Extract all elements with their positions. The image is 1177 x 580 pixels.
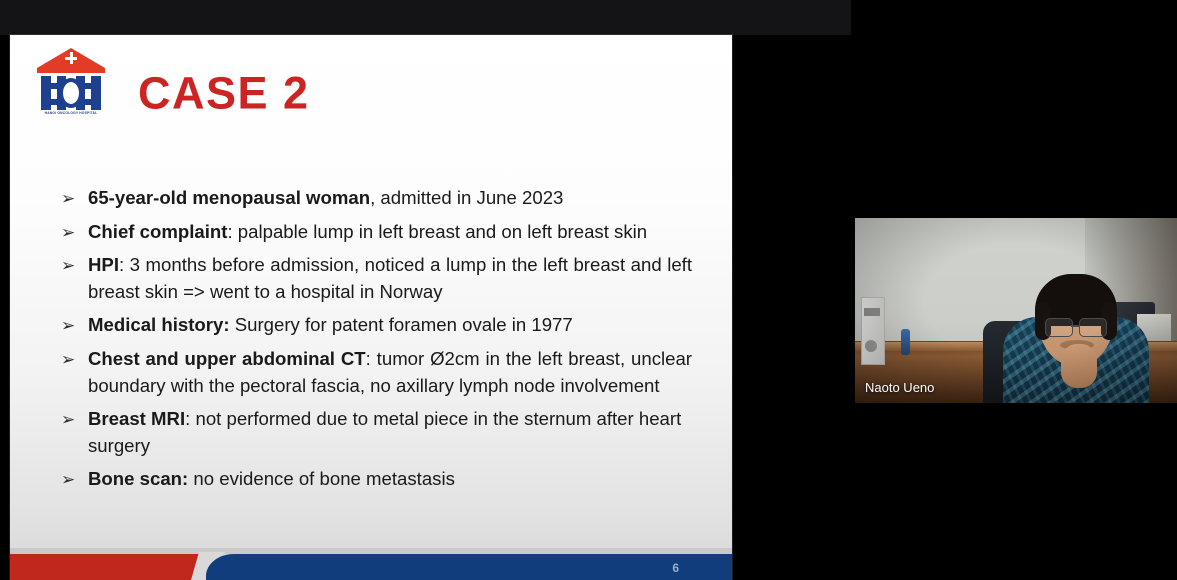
- bullet-lead: HPI: [88, 254, 119, 275]
- bullet-item: ➢Bone scan: no evidence of bone metastas…: [56, 466, 692, 493]
- meeting-window: HANOI ONCOLOGY HOSPITAL CASE 2 ➢65-year-…: [0, 0, 1177, 580]
- hospital-logo-icon: HANOI ONCOLOGY HOSPITAL: [34, 43, 108, 121]
- bullet-item: ➢Breast MRI: not performed due to metal …: [56, 406, 692, 459]
- bullet-item: ➢65-year-old menopausal woman, admitted …: [56, 185, 692, 212]
- logo-cross-horizontal: [65, 57, 77, 60]
- bullet-item: ➢Chest and upper abdominal CT: tumor Ø2c…: [56, 346, 692, 399]
- bullet-marker-icon: ➢: [61, 407, 75, 434]
- bullet-rest: no evidence of bone metastasis: [188, 468, 455, 489]
- bullet-marker-icon: ➢: [61, 347, 75, 374]
- bullet-marker-icon: ➢: [61, 313, 75, 340]
- bullet-lead: 65-year-old menopausal woman: [88, 187, 370, 208]
- bullet-rest: : 3 months before admission, noticed a l…: [88, 254, 692, 302]
- bullet-rest: , admitted in June 2023: [370, 187, 563, 208]
- bullet-marker-icon: ➢: [61, 186, 75, 213]
- slide-body: ➢65-year-old menopausal woman, admitted …: [56, 185, 692, 500]
- bullet-item: ➢Medical history: Surgery for patent for…: [56, 312, 692, 339]
- footer-blue-band: [206, 554, 732, 580]
- bullet-rest: Surgery for patent foramen ovale in 1977: [230, 314, 573, 335]
- participant-video-tile[interactable]: Naoto Ueno: [855, 218, 1177, 403]
- bullet-lead: Chest and upper abdominal CT: [88, 348, 366, 369]
- bullet-marker-icon: ➢: [61, 220, 75, 247]
- slide-header: HANOI ONCOLOGY HOSPITAL CASE 2: [10, 35, 732, 135]
- footer-red-band: [10, 554, 215, 580]
- slide-footer: 6: [10, 548, 732, 580]
- shared-slide[interactable]: HANOI ONCOLOGY HOSPITAL CASE 2 ➢65-year-…: [10, 35, 732, 580]
- slide-page-number: 6: [672, 561, 679, 575]
- logo-caption-line-1: HANOI ONCOLOGY HOSPITAL: [36, 111, 106, 116]
- bullet-marker-icon: ➢: [61, 253, 75, 280]
- slide-title: CASE 2: [138, 71, 310, 116]
- bullet-item: ➢HPI: 3 months before admission, noticed…: [56, 252, 692, 305]
- bullet-lead: Breast MRI: [88, 408, 185, 429]
- participant-name-label: Naoto Ueno: [865, 380, 934, 395]
- bullet-item: ➢Chief complaint: palpable lump in left …: [56, 219, 692, 246]
- bullet-lead: Chief complaint: [88, 221, 227, 242]
- logo-roof-base: [37, 68, 105, 73]
- logo-ring: [63, 82, 79, 104]
- bullet-rest: : palpable lump in left breast and on le…: [227, 221, 647, 242]
- bullet-lead: Bone scan:: [88, 468, 188, 489]
- video-vignette: [855, 218, 1177, 403]
- bullet-marker-icon: ➢: [61, 467, 75, 494]
- bullet-lead: Medical history:: [88, 314, 230, 335]
- top-toolbar-strip: [0, 0, 851, 35]
